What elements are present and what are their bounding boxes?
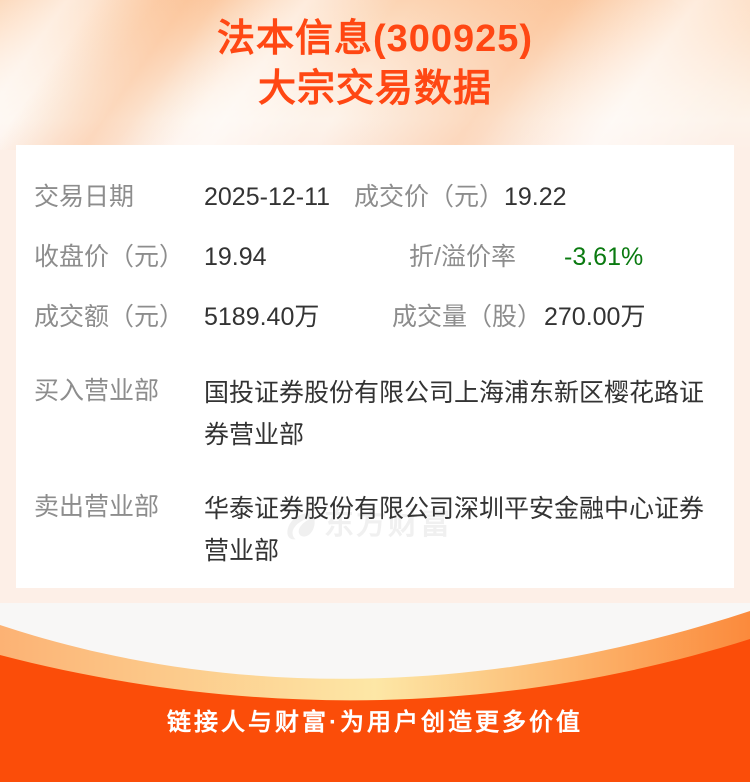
footer-wave-area	[0, 603, 750, 782]
close-price-label: 收盘价（元）	[34, 238, 204, 276]
buyer-branch-value: 国投证券股份有限公司上海浦东新区樱花路证券营业部	[204, 372, 724, 456]
dazong-trade-card-page: 法本信息(300925) 大宗交易数据 东方财富 交易日期 2025-12-11…	[0, 0, 750, 782]
table-row-seller: 卖出营业部 华泰证券股份有限公司深圳平安金融中心证券营业部	[34, 488, 724, 572]
trade-price-value: 19.22	[504, 178, 567, 216]
turnover-amount-label: 成交额（元）	[34, 298, 204, 336]
row-cell-group-left: 收盘价（元） 19.94	[34, 238, 409, 276]
close-price-value: 19.94	[204, 238, 409, 276]
seller-branch-value: 华泰证券股份有限公司深圳平安金融中心证券营业部	[204, 488, 724, 572]
turnover-amount-value: 5189.40万	[204, 298, 392, 336]
seller-branch-label: 卖出营业部	[34, 488, 204, 526]
table-row-buyer: 买入营业部 国投证券股份有限公司上海浦东新区樱花路证券营业部	[34, 372, 724, 456]
footer-wave-graphic	[0, 603, 750, 782]
footer-slogan: 链接人与财富·为用户创造更多价值	[0, 706, 750, 740]
turnover-volume-label: 成交量（股）	[392, 298, 544, 336]
page-title: 法本信息(300925) 大宗交易数据	[0, 14, 750, 114]
premium-rate-value: -3.61%	[564, 238, 643, 276]
page-title-stock-name: 法本信息(300925)	[0, 14, 750, 64]
row-cell-group-right: 成交价（元） 19.22	[354, 178, 567, 216]
table-row: 收盘价（元） 19.94 折/溢价率 -3.61%	[34, 238, 724, 276]
turnover-volume-value: 270.00万	[544, 298, 645, 336]
premium-rate-label: 折/溢价率	[409, 238, 564, 276]
trade-price-label: 成交价（元）	[354, 178, 504, 216]
trade-data-card: 东方财富 交易日期 2025-12-11 成交价（元） 19.22 收盘价（元）…	[16, 145, 734, 588]
row-cell-group-right: 折/溢价率 -3.61%	[409, 238, 643, 276]
card-bottom-spacer	[0, 588, 750, 603]
trade-date-label: 交易日期	[34, 178, 204, 216]
header-banner: 法本信息(300925) 大宗交易数据	[0, 0, 750, 150]
table-row: 交易日期 2025-12-11 成交价（元） 19.22	[34, 178, 724, 216]
trade-date-value: 2025-12-11	[204, 178, 354, 216]
table-row: 成交额（元） 5189.40万 成交量（股） 270.00万	[34, 298, 724, 336]
page-title-subtitle: 大宗交易数据	[0, 64, 750, 114]
buyer-branch-label: 买入营业部	[34, 372, 204, 410]
row-cell-group-left: 交易日期 2025-12-11	[34, 178, 354, 216]
row-cell-group-right: 成交量（股） 270.00万	[392, 298, 645, 336]
row-cell-group-left: 成交额（元） 5189.40万	[34, 298, 392, 336]
